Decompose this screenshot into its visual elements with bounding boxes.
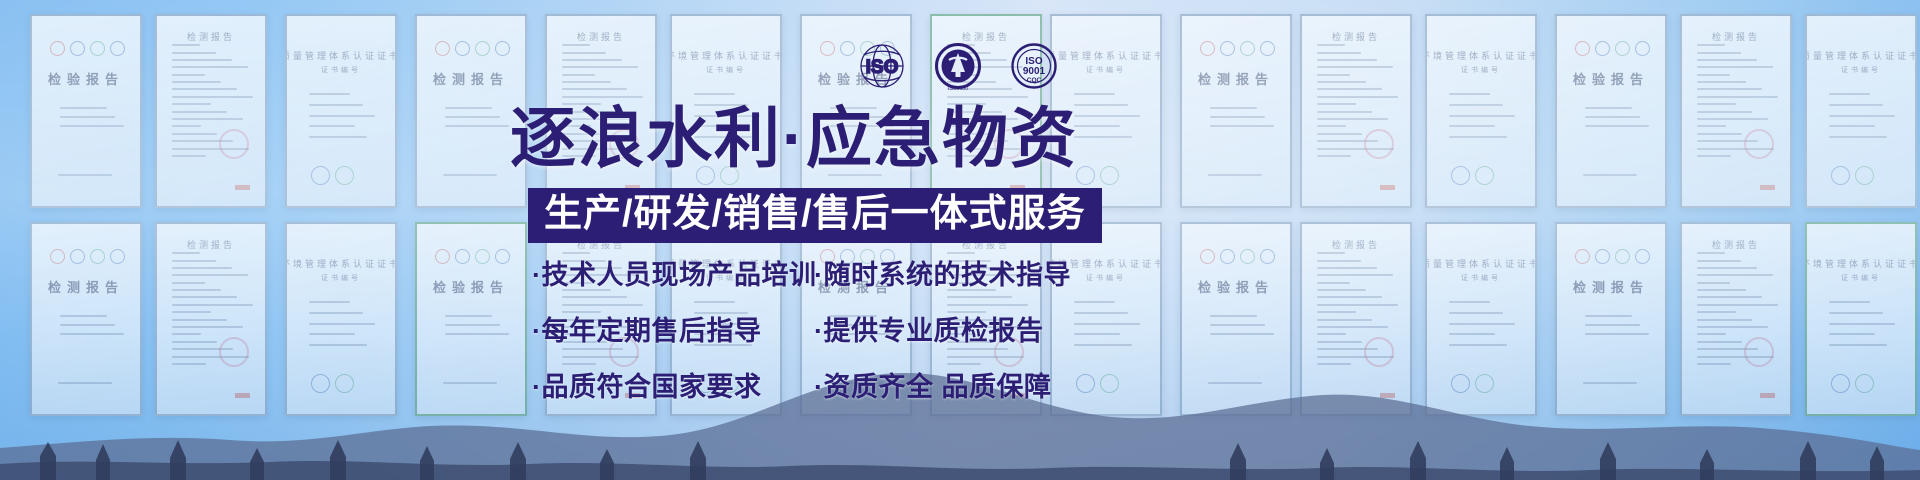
certificate-text-line <box>172 66 248 68</box>
certificate-stamp-icon <box>110 41 125 56</box>
certificate-text-line <box>1317 282 1351 284</box>
certificate-text-line <box>1697 155 1732 157</box>
certificate-text-line <box>1449 301 1490 303</box>
feature-item: ·品质符合国家要求 <box>532 365 814 404</box>
certificate-stamp-icon <box>50 249 65 264</box>
certificate-text-line <box>1317 133 1362 135</box>
certificate-text-line <box>445 315 492 317</box>
certificate-text-line <box>1585 125 1649 127</box>
certificate-title: 检测报告 <box>433 69 509 88</box>
certificate-stamp-icon <box>1595 249 1610 264</box>
certificate-footer-mark <box>1380 185 1395 190</box>
certificate-text-line <box>172 118 243 120</box>
certificate-text-line <box>1317 311 1356 313</box>
certificate-text-line <box>1829 115 1895 117</box>
certificate-text-line <box>1317 81 1367 83</box>
certificate-text-line <box>1074 323 1140 325</box>
certificate-stamp-row <box>311 166 354 185</box>
certificate-text-line <box>562 81 612 83</box>
certificate-text-line <box>1583 174 1638 176</box>
certificate-title: 检测报告 <box>1332 30 1380 43</box>
certificate-text-line <box>172 296 238 298</box>
certificate-title: 质量管理体系认证证书 <box>1805 49 1917 62</box>
certificate-text-line <box>1317 59 1377 61</box>
certificate-text-line <box>1449 93 1490 95</box>
certificate-title: 检测报告 <box>187 238 235 251</box>
certificate-stamp-icon <box>840 41 855 56</box>
certificate-stamp-icon <box>1200 249 1215 264</box>
certificate-title: 环境管理体系认证证书 <box>1805 257 1917 270</box>
certificate-text-line <box>562 66 638 68</box>
certificate-text-line <box>1829 104 1883 106</box>
certificate-text-line <box>172 282 206 284</box>
certificate-text-line <box>947 96 1029 98</box>
certificate-text-line <box>309 93 350 95</box>
iso9001-cqc-badge: ISO 9001 CQC <box>1007 40 1061 92</box>
certificate-subtitle: 证书编号 <box>321 273 361 283</box>
certificate-footer-mark <box>235 185 250 190</box>
certificate-title: 检测报告 <box>48 277 124 296</box>
certificate-text-line <box>1697 52 1741 54</box>
certificate-text-line <box>172 133 217 135</box>
certificate-text-line <box>1074 115 1140 117</box>
certificate-text-line <box>1697 274 1773 276</box>
certificate-text-line <box>1697 311 1736 313</box>
certificate-text-line <box>172 319 227 321</box>
certificate-text-line <box>1697 118 1768 120</box>
certificate-text-line <box>1697 96 1779 98</box>
certificate-text-line <box>1697 289 1747 291</box>
certificate-text-line <box>1317 326 1388 328</box>
certificate-text-line <box>309 125 355 127</box>
certificate-text-line <box>309 136 367 138</box>
certificate-stamp-row <box>1200 249 1275 264</box>
certificate-text-line <box>172 52 216 54</box>
certificate-text-line <box>1829 136 1887 138</box>
certificate-text-line <box>58 174 113 176</box>
certificate-text-line <box>1074 93 1115 95</box>
certificate-stamp-icon <box>1220 249 1235 264</box>
certificate-text-line <box>1317 289 1367 291</box>
certificate-stamp-icon <box>50 41 65 56</box>
certificate-stamp-row <box>50 249 125 264</box>
certificate-text-line <box>1697 81 1747 83</box>
certificate-text-line <box>1697 88 1763 90</box>
certificate-title: 检测报告 <box>577 30 625 43</box>
certificate-thumbnail: 检测报告 <box>1180 14 1292 208</box>
certificate-text-line <box>1449 115 1515 117</box>
certificate-text-line <box>172 252 200 254</box>
certificate-text-line <box>1317 274 1393 276</box>
certificate-stamp-icon <box>90 249 105 264</box>
certificate-text-line <box>60 116 115 118</box>
feature-item: ·资质齐全 品质保障 <box>814 365 1064 404</box>
certificate-stamp-row <box>1575 249 1650 264</box>
certificate-stamp-icon <box>1615 41 1630 56</box>
certificate-text-line <box>172 59 232 61</box>
svg-text:CQC: CQC <box>1027 77 1042 84</box>
certificate-text-line <box>1210 324 1265 326</box>
certificate-stamp-row <box>1575 41 1650 56</box>
certificate-subtitle: 证书编号 <box>1461 65 1501 75</box>
certificate-text-line <box>1697 44 1725 46</box>
certificate-text-line <box>1697 260 1741 262</box>
certificate-text-line <box>562 74 596 76</box>
certificate-thumbnail: 检验报告 <box>1555 14 1667 208</box>
certificate-stamp-icon <box>1240 41 1255 56</box>
certificate-seal-icon <box>1364 129 1394 159</box>
certificate-text-line <box>1585 107 1632 109</box>
certificate-text-line <box>1449 136 1507 138</box>
certificate-text-line <box>1697 319 1752 321</box>
certificate-text-line <box>60 315 107 317</box>
certificate-text-line <box>1697 304 1779 306</box>
certificate-subtitle: 证书编号 <box>1841 273 1881 283</box>
certificate-stamp-icon <box>70 249 85 264</box>
certificate-text-line <box>1697 74 1731 76</box>
certificate-text-line <box>562 96 644 98</box>
certificate-seal-icon <box>219 129 249 159</box>
certificate-text-line <box>1829 323 1895 325</box>
certificate-text-line <box>1317 88 1383 90</box>
certificate-thumbnail: 质量管理体系认证证书证书编号 <box>285 14 397 208</box>
certificate-text-line <box>443 174 498 176</box>
certificate-text-line <box>1074 312 1128 314</box>
certificate-text-line <box>1210 125 1274 127</box>
certificate-stamp-icon <box>820 41 835 56</box>
certificate-thumbnail: 检测报告 <box>155 14 267 208</box>
certificate-stamp-icon <box>335 166 354 185</box>
certificate-stamp-icon <box>435 41 450 56</box>
certificate-text-line <box>1074 104 1128 106</box>
feature-item: ·每年定期售后指导 <box>532 309 814 348</box>
certificate-text-line <box>1697 103 1736 105</box>
certificate-stamp-icon <box>455 41 470 56</box>
certificate-title: 质量管理体系认证证书 <box>1425 257 1537 270</box>
certificate-text-line <box>172 274 248 276</box>
certificate-text-line <box>172 88 238 90</box>
certificate-text-line <box>1697 267 1757 269</box>
certificate-stamp-row <box>50 41 125 56</box>
certificate-text-line <box>1697 133 1742 135</box>
certificate-text-line <box>445 107 492 109</box>
certificate-stamp-icon <box>1220 41 1235 56</box>
svg-text:9001: 9001 <box>1023 66 1046 77</box>
certificate-text-line <box>1585 315 1632 317</box>
certificate-stamp-icon <box>1575 41 1590 56</box>
certificate-title: 检测报告 <box>1198 69 1274 88</box>
feature-list: ·技术人员现场产品培训 ·随时系统的技术指导 ·每年定期售后指导 ·提供专业质检… <box>532 253 1064 404</box>
certificate-thumbnail: 检测报告 <box>1680 14 1792 208</box>
certificate-subtitle: 证书编号 <box>1461 273 1501 283</box>
certificate-text-line <box>172 311 211 313</box>
certificate-stamp-icon <box>455 249 470 264</box>
certificate-text-line <box>172 260 216 262</box>
certificate-stamp-icon <box>90 41 105 56</box>
certificate-text-line <box>309 312 363 314</box>
certificate-stamp-icon <box>1076 166 1095 185</box>
certificate-thumbnail: 检验报告 <box>30 14 142 208</box>
certificate-title: 检验报告 <box>433 277 509 296</box>
certificate-text-line <box>1208 174 1263 176</box>
certificate-text-line <box>1449 312 1503 314</box>
certificate-title: 检测报告 <box>1573 277 1649 296</box>
certificate-text-line <box>1210 116 1265 118</box>
certificate-text-line <box>1317 111 1372 113</box>
certificate-text-line <box>1317 304 1399 306</box>
certificate-stamp-icon <box>1200 41 1215 56</box>
certificate-text-line <box>1697 111 1752 113</box>
certificate-text-line <box>1317 44 1345 46</box>
certificate-text-line <box>1317 118 1388 120</box>
certificate-text-line <box>172 74 206 76</box>
certificate-text-line <box>562 59 622 61</box>
certification-badges: ISO ISO9000 ISO 9001 CQC <box>855 40 1061 92</box>
certificate-stamp-icon <box>1260 249 1275 264</box>
certificate-thumbnail: 环境管理体系认证证书证书编号 <box>1425 14 1537 208</box>
certificate-text-line <box>1317 296 1383 298</box>
banner-headline: 逐浪水利·应急物资 <box>510 105 1078 171</box>
certificate-subtitle: 证书编号 <box>1841 65 1881 75</box>
certificate-text-line <box>1074 136 1132 138</box>
certificate-title: 检验报告 <box>1573 69 1649 88</box>
certificate-text-line <box>309 104 363 106</box>
certificate-stamp-row <box>1076 166 1119 185</box>
certificate-title: 检验报告 <box>48 69 124 88</box>
certificate-stamp-icon <box>1595 41 1610 56</box>
certificate-text-line <box>172 326 243 328</box>
certificate-stamp-icon <box>435 249 450 264</box>
certificate-text-line <box>172 155 207 157</box>
certificate-title: 检测报告 <box>1712 30 1760 43</box>
certificate-title: 检测报告 <box>187 30 235 43</box>
certificate-text-line <box>445 116 500 118</box>
certificate-stamp-icon <box>110 249 125 264</box>
certificate-text-line <box>1585 324 1640 326</box>
certificate-text-line <box>172 103 211 105</box>
certificate-text-line <box>1317 74 1351 76</box>
certificate-text-line <box>1317 66 1393 68</box>
certificate-text-line <box>1697 282 1731 284</box>
certificate-text-line <box>1074 301 1115 303</box>
certificate-text-line <box>172 304 254 306</box>
certificate-text-line <box>562 88 628 90</box>
certificate-subtitle: 证书编号 <box>706 65 746 75</box>
certificate-stamp-icon <box>495 249 510 264</box>
svg-text:ISO: ISO <box>866 57 899 78</box>
certificate-title: 质量管理体系认证证书 <box>285 49 397 62</box>
certificate-text-line <box>1697 326 1768 328</box>
certificate-stamp-row <box>1831 166 1874 185</box>
certificate-text-line <box>309 115 375 117</box>
certificate-text-line <box>1210 107 1257 109</box>
certificate-text-line <box>1074 125 1120 127</box>
certificate-text-line <box>172 267 232 269</box>
certificate-text-line <box>172 81 222 83</box>
certificate-text-line <box>1317 319 1372 321</box>
certificate-subtitle: 证书编号 <box>1086 273 1126 283</box>
certificate-stamp-icon <box>1240 249 1255 264</box>
iso9000-seal-badge: ISO9000 <box>931 40 985 92</box>
certificate-stamp-icon <box>1615 249 1630 264</box>
certificate-title: 环境管理体系认证证书 <box>285 257 397 270</box>
certificate-stamp-icon <box>1855 166 1874 185</box>
certificate-stamp-row <box>435 249 510 264</box>
certificate-text-line <box>1697 296 1763 298</box>
certificate-text-line <box>445 125 509 127</box>
certificate-title: 环境管理体系认证证书 <box>1425 49 1537 62</box>
certificate-subtitle: 证书编号 <box>1086 65 1126 75</box>
certificate-text-line <box>1449 125 1495 127</box>
certificate-text-line <box>1317 252 1345 254</box>
certificate-stamp-icon <box>1831 166 1850 185</box>
svg-text:ISO9000: ISO9000 <box>948 86 968 92</box>
certificate-thumbnail: 质量管理体系认证证书证书编号 <box>1805 14 1917 208</box>
certificate-text-line <box>1697 66 1773 68</box>
certificate-title: 质量管理体系认证证书 <box>1050 49 1162 62</box>
certificate-text-line <box>1697 252 1725 254</box>
certificate-stamp-icon <box>475 41 490 56</box>
certificate-stamp-icon <box>1575 249 1590 264</box>
certificate-text-line <box>694 93 735 95</box>
certificate-text-line <box>60 107 107 109</box>
certificate-text-line <box>1829 125 1875 127</box>
certificate-text-line <box>172 111 227 113</box>
certificate-text-line <box>172 44 200 46</box>
certificate-stamp-icon <box>70 41 85 56</box>
certificate-stamp-icon <box>475 249 490 264</box>
certificate-text-line <box>562 44 590 46</box>
certificate-text-line <box>445 324 500 326</box>
certificate-text-line <box>1697 125 1726 127</box>
certificate-stamp-icon <box>1635 249 1650 264</box>
certificate-text-line <box>1449 104 1503 106</box>
certificate-stamp-row <box>435 41 510 56</box>
certificate-text-line <box>562 52 606 54</box>
certificate-text-line <box>60 324 115 326</box>
certificate-text-line <box>1449 323 1515 325</box>
certificate-text-line <box>1829 301 1870 303</box>
feature-item: ·随时系统的技术指导 <box>814 253 1064 292</box>
certificate-text-line <box>1317 267 1377 269</box>
certificate-subtitle: 证书编号 <box>321 65 361 75</box>
certificate-text-line <box>1829 312 1883 314</box>
certificate-stamp-icon <box>495 41 510 56</box>
certificate-title: 环境管理体系认证证书 <box>670 49 782 62</box>
certificate-text-line <box>1317 125 1346 127</box>
certificate-text-line <box>172 125 201 127</box>
certificate-text-line <box>1210 315 1257 317</box>
certificate-thumbnail: 检测报告 <box>1300 14 1412 208</box>
certificate-title: 检测报告 <box>1332 238 1380 251</box>
certificate-title: 检验报告 <box>1198 277 1274 296</box>
certificate-text-line <box>172 289 222 291</box>
certificate-seal-icon <box>1744 129 1774 159</box>
certificate-text-line <box>1317 52 1361 54</box>
iso-globe-badge: ISO <box>855 40 909 92</box>
certificate-text-line <box>1829 93 1870 95</box>
promo-banner: 检验报告检测报告质量管理体系认证证书证书编号检测报告检测报告环境管理体系认证证书… <box>0 0 1920 480</box>
certificate-footer-mark <box>1760 185 1775 190</box>
certificate-stamp-icon <box>1475 166 1494 185</box>
certificate-text-line <box>1317 260 1361 262</box>
certificate-stamp-row <box>1451 166 1494 185</box>
certificate-text-line <box>1585 116 1640 118</box>
certificate-stamp-icon <box>1635 41 1650 56</box>
certificate-text-line <box>172 96 254 98</box>
banner-subtitle-bar: 生产/研发/销售/售后一体式服务 <box>528 188 1102 243</box>
certificate-stamp-icon <box>1100 166 1119 185</box>
certificate-text-line <box>1317 103 1356 105</box>
certificate-stamp-icon <box>1260 41 1275 56</box>
certificate-text-line <box>1697 59 1757 61</box>
certificate-text-line <box>309 323 375 325</box>
certificate-stamp-icon <box>1451 166 1470 185</box>
certificate-stamp-row <box>1200 41 1275 56</box>
certificate-stamp-icon <box>311 166 330 185</box>
certificate-text-line <box>1317 96 1399 98</box>
feature-item: ·提供专业质检报告 <box>814 309 1064 348</box>
certificate-text-line <box>1317 155 1352 157</box>
certificate-text-line <box>60 125 124 127</box>
feature-item: ·技术人员现场产品培训 <box>532 253 814 292</box>
certificate-title: 检测报告 <box>1712 238 1760 251</box>
certificate-text-line <box>309 301 350 303</box>
